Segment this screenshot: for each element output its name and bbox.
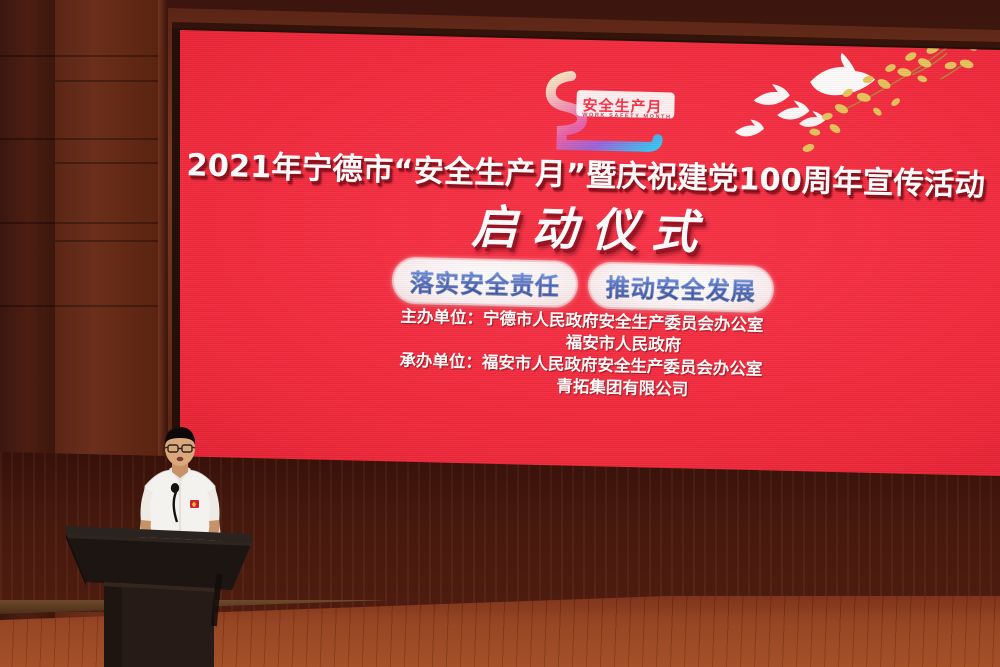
conference-hall-photo: 安全生产月 WORK SAFETY MONTH 2021年宁德市“安全生产月”暨…: [0, 0, 1000, 667]
dove-icon: [735, 119, 764, 137]
wall-seam: [55, 240, 165, 242]
wall-seam: [55, 162, 165, 164]
work-safety-month-logo: 安全生产月 WORK SAFETY MONTH: [525, 61, 687, 157]
slogan-text: 推动安全发展: [605, 274, 756, 306]
slogan-pill: 落实安全责任: [393, 259, 576, 307]
wall-seam: [55, 80, 165, 82]
dove-icon: [754, 84, 791, 106]
mouth: [177, 457, 184, 461]
branch-stem: [845, 39, 969, 112]
led-backdrop-screen: 安全生产月 WORK SAFETY MONTH 2021年宁德市“安全生产月”暨…: [180, 0, 1000, 500]
slogan-text: 落实安全责任: [410, 269, 561, 301]
backdrop-content: 安全生产月 WORK SAFETY MONTH 2021年宁德市“安全生产月”暨…: [180, 0, 1000, 500]
dove-icon: [810, 52, 876, 96]
party-emblem-lapel-pin: [190, 500, 199, 508]
dove-icon: [777, 100, 809, 120]
wall-seam: [0, 138, 160, 140]
organizer-block: 主办单位：宁德市人民政府安全生产委员会办公室 福安市人民政府 承办单位：福安市人…: [180, 300, 992, 409]
wall-seam: [0, 305, 160, 307]
wall-seam: [0, 55, 160, 57]
lectern: [64, 512, 254, 667]
slogan-pill: 推动安全发展: [589, 263, 772, 311]
wall-seam: [0, 222, 160, 224]
dove-icon: [799, 111, 825, 128]
